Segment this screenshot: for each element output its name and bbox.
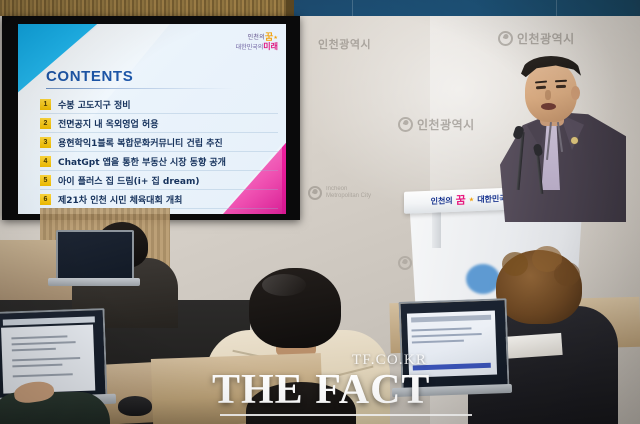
contents-item: 2 전면공지 내 옥외영업 허용 xyxy=(40,115,278,133)
contents-item-label: 제21차 인천 시민 체육대회 개최 xyxy=(58,193,182,206)
contents-item-number: 1 xyxy=(40,99,51,110)
slide-logo-line1-prefix: 인천의 xyxy=(248,35,265,41)
speaker-mouth xyxy=(541,103,556,110)
speaker-ear xyxy=(571,86,580,100)
contents-item: 4 ChatGpt 앱을 통한 부동산 시장 동향 공개 xyxy=(40,153,278,171)
backdrop-logo-top-right: 인천광역시 xyxy=(498,30,575,47)
backdrop-logo-en-line1: Incheon xyxy=(326,186,371,193)
laptop-screen-back-left xyxy=(56,230,134,280)
contents-item-number: 5 xyxy=(40,175,51,186)
podium-slogan-dream: 꿈 xyxy=(456,192,466,208)
contents-item-number: 3 xyxy=(40,137,51,148)
contents-item-label: ChatGpt 앱을 통한 부동산 시장 동향 공개 xyxy=(58,155,226,168)
slide-slogan-logo: 인천의꿈★ 대한민국의미래 xyxy=(192,33,278,57)
blue-ceiling-panel xyxy=(294,0,640,16)
contents-item-number: 4 xyxy=(40,156,51,167)
backdrop-logo-text: 인천광역시 xyxy=(417,116,475,133)
wood-band-edge xyxy=(286,0,294,16)
backdrop-logo-middle: 인천광역시 xyxy=(398,116,475,133)
watermark-brand: THE FACT xyxy=(212,366,430,414)
podium-blue-emblem xyxy=(466,264,500,294)
contents-item-number: 6 xyxy=(40,194,51,205)
backdrop-logo-en-line2: Metropolitan City xyxy=(326,193,371,200)
backdrop-logo-top-left: 인천광역시 xyxy=(318,36,371,52)
laptop-screen-left[interactable] xyxy=(0,308,108,400)
contents-item: 5 아이 플러스 집 드림(i+ 집 dream) xyxy=(40,172,278,190)
ceiling-panel-seam xyxy=(556,0,557,16)
laptop-base-back-left xyxy=(48,278,140,286)
contents-item-label: 전면공지 내 옥외영업 허용 xyxy=(58,117,158,130)
slide-title: CONTENTS xyxy=(46,68,133,85)
contents-item: 6 제21차 인천 시민 체육대회 개최 xyxy=(40,191,278,209)
slide-logo-future: 미래 xyxy=(263,42,278,51)
slide-contents-list: 1 수봉 고도지구 정비 2 전면공지 내 옥외영업 허용 3 용현학익1블록 … xyxy=(40,96,278,210)
contents-item-label: 용현학익1블록 복합문화커뮤니티 건립 추진 xyxy=(58,136,223,149)
contents-item: 1 수봉 고도지구 정비 xyxy=(40,96,278,114)
slide-title-underline xyxy=(46,88,234,89)
speaker-lapel-pin xyxy=(571,137,578,144)
speaker-eye-right xyxy=(556,85,566,89)
speaker-nose xyxy=(545,90,551,100)
contents-item-label: 아이 플러스 집 드림(i+ 집 dream) xyxy=(58,174,199,187)
wood-slat-ceiling-band xyxy=(0,0,292,16)
journalist-right-hair-curl xyxy=(554,262,580,286)
backdrop-logo-en: Incheon Metropolitan City xyxy=(308,186,371,200)
contents-item-label: 수봉 고도지구 정비 xyxy=(58,98,131,111)
slide-logo-line2-prefix: 대한민국의 xyxy=(236,45,264,51)
podium-slogan-prefix: 인천의 xyxy=(431,195,453,207)
backdrop-logo-text: 인천광역시 xyxy=(517,30,575,47)
computer-mouse xyxy=(118,396,152,416)
incheon-swirl-icon xyxy=(308,186,322,200)
watermark-underline xyxy=(220,414,472,416)
ceiling-panel-seam xyxy=(352,0,353,16)
contents-item-number: 2 xyxy=(40,118,51,129)
backdrop-logo-text: 인천광역시 xyxy=(318,36,371,52)
podium-slogan-star: ★ xyxy=(469,196,474,203)
presentation-slide: 인천의꿈★ 대한민국의미래 CONTENTS 1 수봉 고도지구 정비 2 전면… xyxy=(18,24,286,214)
journalist-right-hair-curl xyxy=(502,252,528,276)
press-briefing-photo: 인천광역시 인천광역시 인천광역시 Incheon Metropolitan C… xyxy=(0,0,640,424)
slide-logo-star: ★ xyxy=(273,35,278,41)
journalist-center-hair-highlight xyxy=(262,274,306,296)
incheon-swirl-icon xyxy=(398,117,413,132)
contents-item: 3 용현학익1블록 복합문화커뮤니티 건립 추진 xyxy=(40,134,278,152)
incheon-swirl-icon xyxy=(398,256,412,270)
incheon-swirl-icon xyxy=(498,31,513,46)
presentation-display: 인천의꿈★ 대한민국의미래 CONTENTS 1 수봉 고도지구 정비 2 전면… xyxy=(2,16,300,220)
